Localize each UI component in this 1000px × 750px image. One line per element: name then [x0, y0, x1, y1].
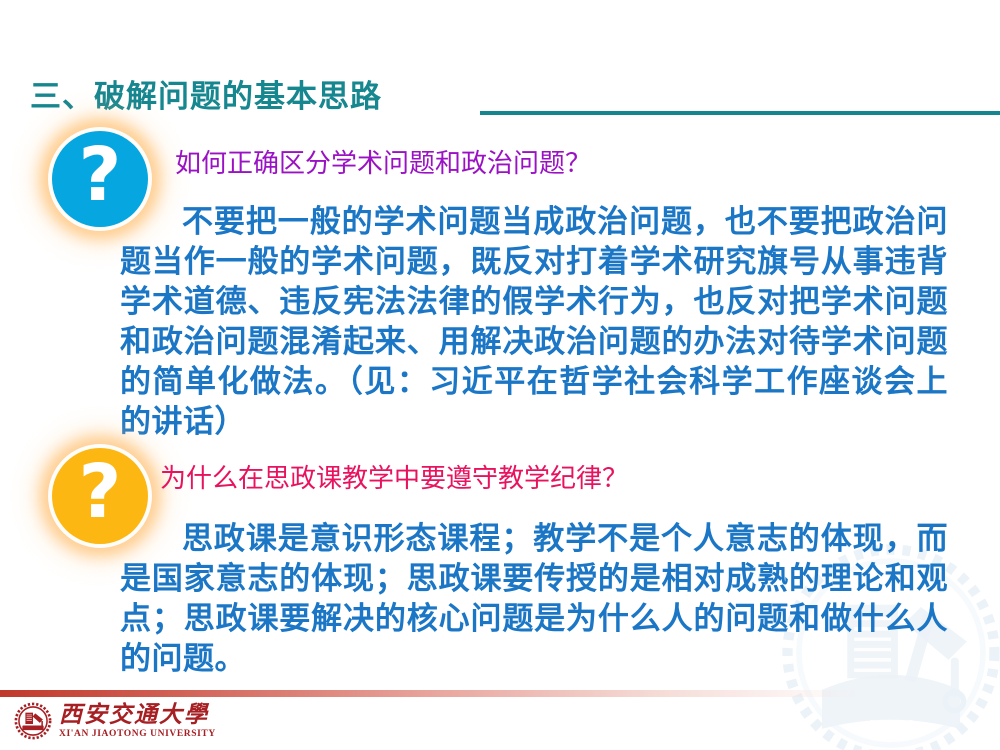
watermark-year: 1896 [865, 715, 916, 741]
body-paragraph-2: 思政课是意识形态课程；教学不是个人意志的体现，而是国家意志的体现；思政课要传授的… [120, 519, 948, 679]
question-mark-glyph-1: ? [79, 138, 122, 212]
university-logo: 西安交通大學 XI'AN JIAOTONG UNIVERSITY [14, 702, 216, 740]
body-paragraph-2-text: 思政课是意识形态课程；教学不是个人意志的体现，而是国家意志的体现；思政课要传授的… [120, 521, 948, 677]
page-title-text: 三、破解问题的基本思路 [30, 78, 382, 116]
page-title: 三、破解问题的基本思路 [0, 78, 1000, 120]
question-heading-1: 如何正确区分学术问题和政治问题？ [175, 148, 591, 180]
question-heading-2: 为什么在思政课教学中要遵守教学纪律？ [160, 463, 628, 495]
footer-divider [0, 690, 860, 697]
xjtu-emblem-icon [14, 702, 52, 740]
body-paragraph-1-text: 不要把一般的学术问题当成政治问题，也不要把政治问题当作一般的学术问题，既反对打着… [120, 204, 948, 440]
university-name-cn: 西安交通大學 [59, 702, 216, 727]
title-underline-rule [480, 111, 1000, 115]
body-paragraph-1: 不要把一般的学术问题当成政治问题，也不要把政治问题当作一般的学术问题，既反对打着… [120, 202, 948, 442]
question-mark-glyph-2: ? [79, 455, 122, 529]
slide-canvas: 1896 三、破解问题的基本思路 ? 如何正确区分学术问题和政治问题？ 不要把一… [0, 0, 1000, 750]
university-name-en: XI'AN JIAOTONG UNIVERSITY [59, 728, 216, 740]
